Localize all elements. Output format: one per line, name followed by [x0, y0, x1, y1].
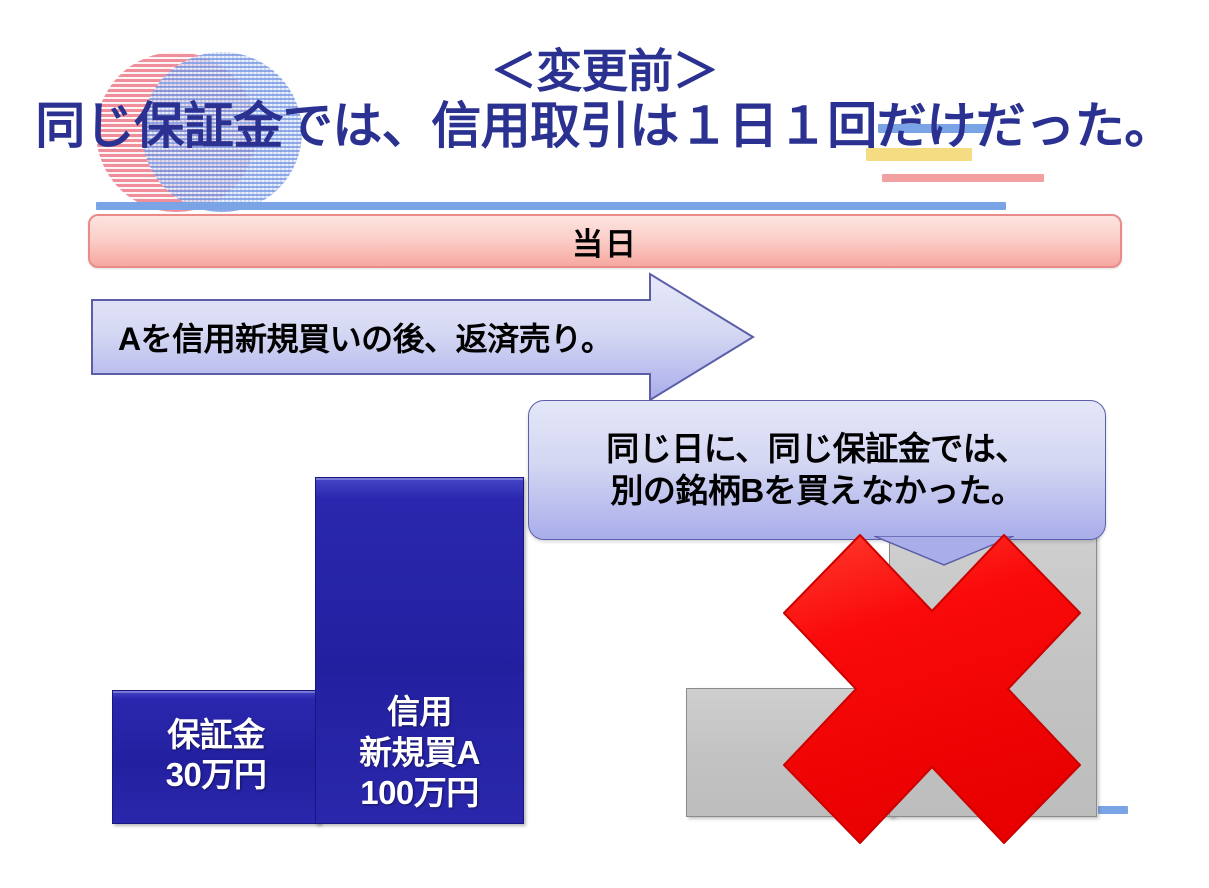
bar-margin-label-line2: 新規買A: [359, 733, 480, 773]
page-subtitle: 同じ保証金では、信用取引は１日１回だけだった。: [0, 100, 1209, 152]
bar-deposit-label: 保証金 30万円: [166, 715, 267, 800]
bar-deposit-label-line1: 保証金: [166, 715, 267, 755]
slide-canvas: ＜変更前＞ 同じ保証金では、信用取引は１日１回だけだった。 当日 Aを信用新規買…: [0, 0, 1209, 888]
day-banner-label: 当日: [572, 219, 638, 264]
flow-arrow: Aを信用新規買いの後、返済売り。: [90, 272, 755, 402]
bar-deposit-blue: 保証金 30万円: [112, 690, 320, 824]
slide-title-block: ＜変更前＞ 同じ保証金では、信用取引は１日１回だけだった。: [0, 48, 1209, 152]
bar-margin-buy-blue: 信用 新規買A 100万円: [315, 477, 524, 824]
callout-line-2: 別の銘柄Bを買えなかった。: [610, 470, 1023, 512]
bar-margin-label: 信用 新規買A 100万円: [359, 692, 480, 817]
accent-line-blue-corner: [1098, 806, 1128, 814]
flow-arrow-label: Aを信用新規買いの後、返済売り。: [118, 272, 678, 402]
bar-margin-label-line3: 100万円: [359, 773, 480, 813]
bar-deposit-label-line2: 30万円: [166, 755, 267, 795]
page-title: ＜変更前＞: [0, 48, 1209, 96]
accent-line-pink: [882, 174, 1044, 182]
callout-line-1: 同じ日に、同じ保証金では、: [606, 428, 1028, 470]
day-banner: 当日: [88, 214, 1122, 268]
bar-margin-label-line1: 信用: [359, 692, 480, 732]
x-mark-icon: [782, 533, 1082, 845]
callout-bubble-body: 同じ日に、同じ保証金では、 別の銘柄Bを買えなかった。: [528, 400, 1106, 540]
callout-bubble: 同じ日に、同じ保証金では、 別の銘柄Bを買えなかった。: [528, 400, 1106, 540]
accent-line-blue-long: [96, 202, 1006, 210]
